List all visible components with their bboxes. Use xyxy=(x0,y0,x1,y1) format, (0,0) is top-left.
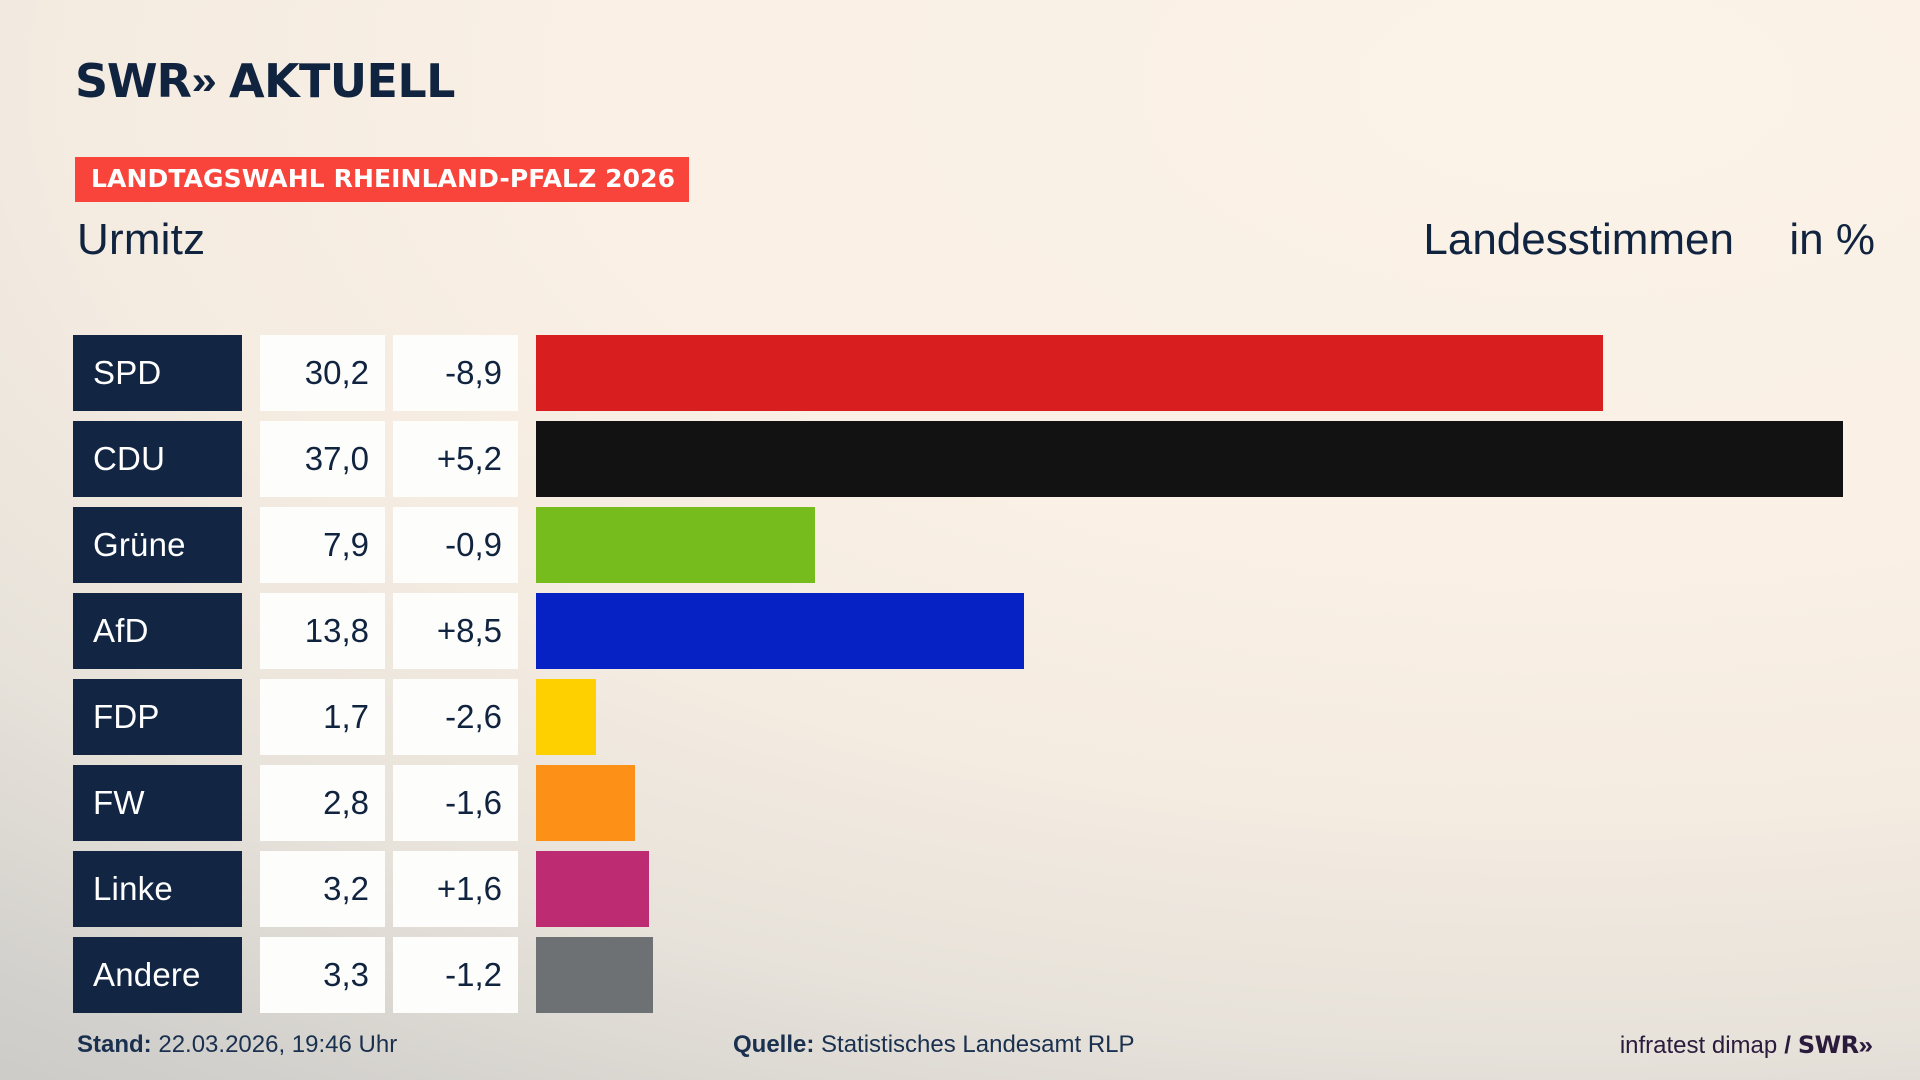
results-table: SPD30,2-8,9CDU37,0+5,2Grüne7,9-0,9AfD13,… xyxy=(0,330,1920,1018)
chevron-double-right-icon: » xyxy=(191,61,217,101)
party-share-value: 3,2 xyxy=(260,851,385,927)
credit-separator: / xyxy=(1784,1032,1791,1060)
vote-type-label: Landesstimmen xyxy=(1423,215,1734,265)
stand-label: Stand: xyxy=(77,1031,152,1058)
party-share-change: -1,6 xyxy=(393,765,518,841)
party-label-grüne: Grüne xyxy=(73,507,242,583)
table-row: AfD13,8+8,5 xyxy=(0,588,1920,674)
table-row: FW2,8-1,6 xyxy=(0,760,1920,846)
result-bar-afd xyxy=(536,593,1024,669)
party-share-value: 13,8 xyxy=(260,593,385,669)
credit-agency: infratest dimap xyxy=(1620,1032,1777,1060)
party-share-change: +1,6 xyxy=(393,851,518,927)
table-row: Linke3,2+1,6 xyxy=(0,846,1920,932)
party-label-linke: Linke xyxy=(73,851,242,927)
result-bar-cdu xyxy=(536,421,1843,497)
party-label-fdp: FDP xyxy=(73,679,242,755)
infographic-canvas: SWR » AKTUELL LANDTAGSWAHL RHEINLAND-PFA… xyxy=(0,0,1920,1080)
party-share-change: -8,9 xyxy=(393,335,518,411)
result-bar-fdp xyxy=(536,679,596,755)
table-row: SPD30,2-8,9 xyxy=(0,330,1920,416)
party-label-afd: AfD xyxy=(73,593,242,669)
party-share-value: 2,8 xyxy=(260,765,385,841)
table-row: FDP1,7-2,6 xyxy=(0,674,1920,760)
party-share-value: 1,7 xyxy=(260,679,385,755)
party-share-change: +8,5 xyxy=(393,593,518,669)
party-share-change: -2,6 xyxy=(393,679,518,755)
result-bar-grüne xyxy=(536,507,815,583)
result-bar-linke xyxy=(536,851,649,927)
result-bar-fw xyxy=(536,765,635,841)
chart-footer: Stand: 22.03.2026, 19:46 Uhr Quelle: Sta… xyxy=(0,1031,1920,1071)
region-title: Urmitz xyxy=(77,215,205,265)
source-info: Quelle: Statistisches Landesamt RLP xyxy=(733,1031,1135,1059)
party-label-andere: Andere xyxy=(73,937,242,1013)
party-share-value: 30,2 xyxy=(260,335,385,411)
chevron-double-right-icon: » xyxy=(1858,1032,1873,1060)
result-bar-spd xyxy=(536,335,1603,411)
table-row: Andere3,3-1,2 xyxy=(0,932,1920,1018)
party-share-change: +5,2 xyxy=(393,421,518,497)
credit-line: infratest dimap / SWR » xyxy=(1620,1031,1872,1060)
party-share-value: 7,9 xyxy=(260,507,385,583)
result-bar-andere xyxy=(536,937,653,1013)
swr-wordmark: SWR xyxy=(75,58,191,104)
stand-value: 22.03.2026, 19:46 Uhr xyxy=(158,1031,397,1058)
party-share-value: 3,3 xyxy=(260,937,385,1013)
party-label-fw: FW xyxy=(73,765,242,841)
party-share-change: -1,2 xyxy=(393,937,518,1013)
party-share-value: 37,0 xyxy=(260,421,385,497)
table-row: Grüne7,9-0,9 xyxy=(0,502,1920,588)
aktuell-wordmark: AKTUELL xyxy=(229,58,455,104)
unit-label: in % xyxy=(1789,215,1875,265)
stand-info: Stand: 22.03.2026, 19:46 Uhr xyxy=(77,1031,397,1059)
table-row: CDU37,0+5,2 xyxy=(0,416,1920,502)
credit-broadcaster: SWR xyxy=(1798,1031,1859,1059)
quelle-value: Statistisches Landesamt RLP xyxy=(821,1031,1135,1058)
chart-title-row: Urmitz Landesstimmen in % xyxy=(0,215,1920,279)
quelle-label: Quelle: xyxy=(733,1031,814,1058)
election-kicker-badge: LANDTAGSWAHL RHEINLAND-PFALZ 2026 xyxy=(75,157,689,202)
party-label-cdu: CDU xyxy=(73,421,242,497)
party-share-change: -0,9 xyxy=(393,507,518,583)
party-label-spd: SPD xyxy=(73,335,242,411)
swr-aktuell-logo: SWR » AKTUELL xyxy=(75,58,455,104)
